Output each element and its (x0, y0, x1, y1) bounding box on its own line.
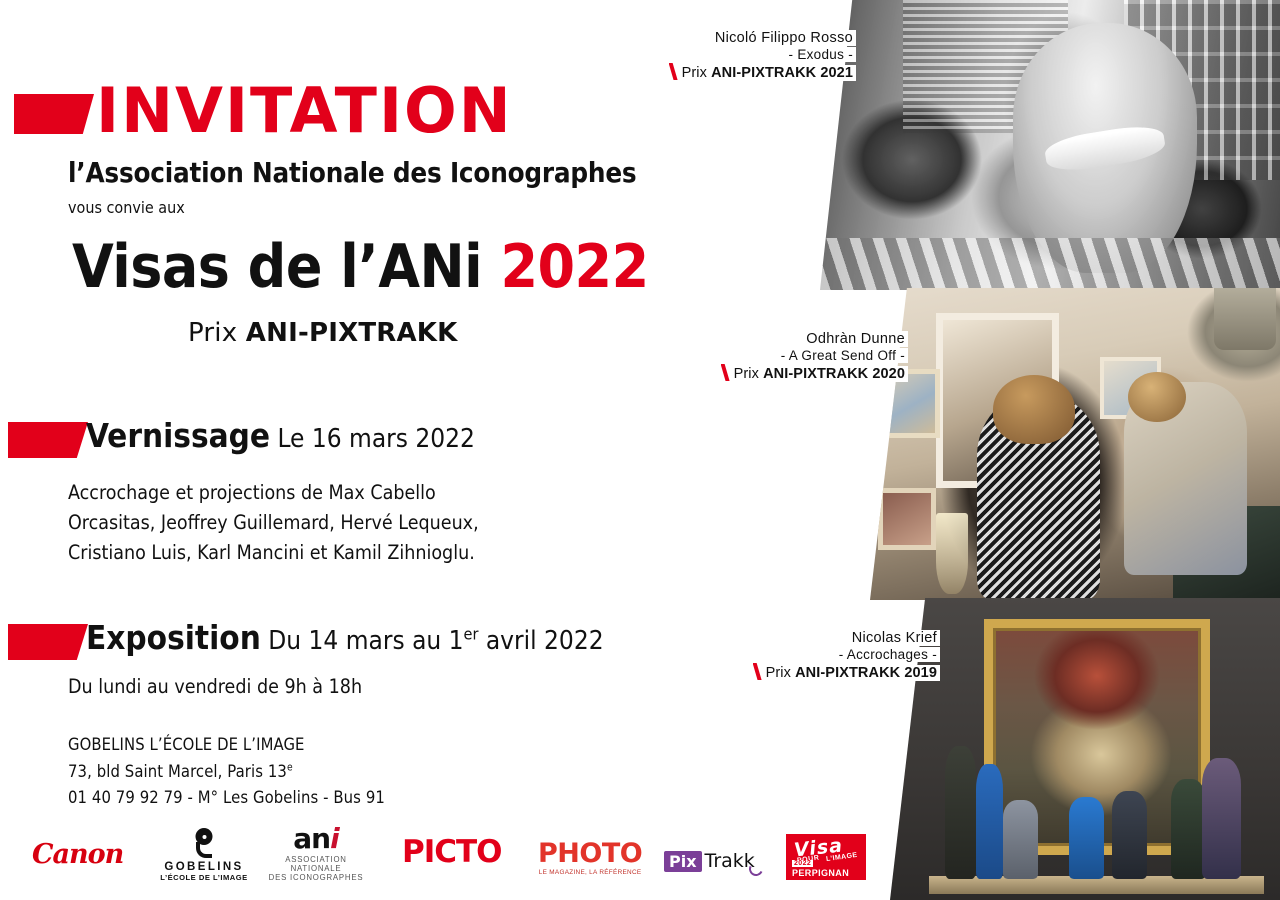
logo-gobelins-wordmark: GOBELINS (158, 861, 250, 873)
photo-accrochages (890, 598, 1280, 900)
logo-ani: ani ASSOCIATION NATIONALE DES ICONOGRAPH… (262, 825, 370, 882)
association-line: l’Association Nationale des Iconographes (68, 157, 636, 189)
section-date-ordinal: er (464, 624, 479, 643)
photo-accrochages-worker (1202, 758, 1241, 879)
logo-gobelins: GOBELINS L’ÉCOLE DE L’IMAGE (158, 828, 250, 882)
red-slash-icon (753, 663, 762, 680)
red-accent-bar-exposition (8, 624, 88, 660)
logo-ani-mark-an: an (293, 822, 330, 855)
event-title: Visas de l’ANi 2022 (72, 236, 649, 299)
logo-picto-wordmark: PICTO (402, 834, 502, 870)
logo-visa-city-text: PERPIGNAN (792, 868, 849, 878)
red-accent-bar-vernissage (8, 422, 88, 458)
venue-arrondissement-ordinal: e (287, 762, 293, 773)
logo-pixtrakk-pix: Pix (664, 851, 702, 872)
caption-accrochages: Nicolas Krief - Accrochages - Prix ANI-P… (750, 630, 940, 682)
logo-picto: PICTO (402, 834, 502, 870)
caption-sendoff-title: - A Great Send Off - (718, 348, 908, 364)
venue-address: 73, bld Saint Marcel, Paris 13e (68, 759, 385, 786)
photo-accrochages-worker (945, 746, 976, 879)
caption-sendoff-author: Odhràn Dunne (718, 331, 908, 348)
caption-accrochages-prize: Prix ANI-PIXTRAKK 2019 (750, 663, 940, 682)
caption-accrochages-title: - Accrochages - (750, 647, 940, 663)
logo-ani-mark-i: i (330, 822, 339, 855)
section-keyword-exposition: Exposition (86, 618, 261, 657)
red-slash-icon (669, 63, 678, 80)
body-line: Du lundi au vendredi de 9h à 18h (68, 672, 362, 702)
caption-exodus-title: - Exodus - (666, 47, 856, 63)
photo-sendoff-hair-left (993, 375, 1075, 444)
photo-accrochages-worker (1171, 779, 1206, 879)
caption-exodus: Nicoló Filippo Rosso - Exodus - Prix ANI… (666, 30, 856, 82)
red-accent-bar-invitation (14, 94, 94, 134)
logo-visa-box: Visa POUR L’IMAGE 2022PERPIGNAN (786, 834, 866, 880)
logo-canon-wordmark: Canon (32, 839, 123, 870)
caption-sendoff: Odhràn Dunne - A Great Send Off - Prix A… (718, 331, 908, 383)
section-date-post: avril 2022 (478, 626, 603, 656)
invitation-poster: Nicoló Filippo Rosso - Exodus - Prix ANI… (0, 0, 1280, 900)
event-subtitle-award: ANI-PIXTRAKK (246, 318, 458, 348)
logo-ani-line1: ASSOCIATION NATIONALE (262, 855, 370, 873)
photo-accrochages-worker (1069, 797, 1104, 879)
photo-sendoff-champagne-glass (936, 513, 969, 594)
logo-visa-pour-limage: Visa POUR L’IMAGE 2022PERPIGNAN (786, 834, 866, 880)
section-date-exposition: Du 14 mars au 1er avril 2022 (261, 626, 604, 656)
caption-accrochages-author: Nicolas Krief (750, 630, 940, 647)
logo-photo-tagline: LE MAGAZINE, LA RÉFÉRENCE (538, 869, 642, 876)
venue-block: GOBELINS L’ÉCOLE DE L’IMAGE 73, bld Sain… (68, 732, 385, 812)
section-body-vernissage: Accrochage et projections de Max Cabello… (68, 478, 479, 569)
caption-exodus-prize: Prix ANI-PIXTRAKK 2021 (666, 63, 856, 82)
photo-accrochages-worker (976, 764, 1003, 879)
logo-canon: Canon (32, 839, 123, 870)
logo-ani-wordmark: ani (293, 825, 338, 853)
logo-visa-year: 2022 (792, 860, 813, 867)
page-title: INVITATION (96, 80, 513, 142)
section-date-vernissage: Le 16 mars 2022 (270, 424, 475, 454)
photo-accrochages-worker (1112, 791, 1147, 879)
body-line: Accrochage et projections de Max Cabello (68, 478, 479, 508)
photo-sendoff-picture-frame-2 (878, 488, 935, 550)
event-subtitle: Prix ANI-PIXTRAKK (188, 318, 458, 348)
photo-sendoff-hair-right (1128, 372, 1185, 422)
event-title-text: Visas de l’ANi (72, 232, 500, 302)
photo-column (760, 0, 1280, 900)
gobelins-hook-icon (196, 842, 212, 858)
logo-gobelins-tagline: L’ÉCOLE DE L’IMAGE (158, 873, 250, 882)
section-heading-exposition: Exposition Du 14 mars au 1er avril 2022 (86, 618, 604, 657)
logo-photo-magazine: PHOTO LE MAGAZINE, LA RÉFÉRENCE (538, 840, 642, 876)
venue-contact: 01 40 79 92 79 - M° Les Gobelins - Bus 9… (68, 785, 385, 812)
body-line: Orcasitas, Jeoffrey Guillemard, Hervé Le… (68, 508, 479, 538)
venue-name: GOBELINS L’ÉCOLE DE L’IMAGE (68, 732, 385, 759)
body-line: Cristiano Luis, Karl Mancini et Kamil Zi… (68, 538, 479, 568)
invite-line: vous convie aux (68, 198, 185, 217)
logo-visa-city: 2022PERPIGNAN (792, 858, 866, 878)
caption-sendoff-prize: Prix ANI-PIXTRAKK 2020 (718, 364, 908, 383)
photo-exodus (820, 0, 1280, 290)
logo-photo-wordmark: PHOTO (538, 840, 642, 867)
logo-ani-line2: DES ICONOGRAPHES (262, 873, 370, 882)
section-body-exposition: Du lundi au vendredi de 9h à 18h (68, 672, 362, 702)
event-subtitle-prefix: Prix (188, 318, 246, 348)
photo-sendoff (870, 288, 1280, 600)
section-heading-vernissage: Vernissage Le 16 mars 2022 (86, 416, 475, 455)
partner-logo-strip: Canon GOBELINS L’ÉCOLE DE L’IMAGE ani AS… (0, 820, 890, 900)
invitation-text-column: INVITATION l’Association Nationale des I… (0, 0, 790, 900)
section-keyword-vernissage: Vernissage (86, 416, 270, 455)
photo-exodus-floor (820, 238, 1280, 290)
gobelins-glyph-icon (158, 828, 250, 858)
photo-sendoff-lampshade (1214, 288, 1276, 350)
caption-exodus-author: Nicoló Filippo Rosso (666, 30, 856, 47)
logo-pixtrakk: Pix Trakk (664, 850, 763, 872)
photo-accrochages-worker (1003, 800, 1038, 879)
event-title-year: 2022 (500, 232, 648, 302)
red-slash-icon (721, 364, 730, 381)
logo-pixtrakk-trakk: Trakk (705, 850, 755, 872)
venue-address-text: 73, bld Saint Marcel, Paris 13 (68, 762, 287, 781)
section-date-pre: Du 14 mars au 1 (261, 626, 464, 656)
